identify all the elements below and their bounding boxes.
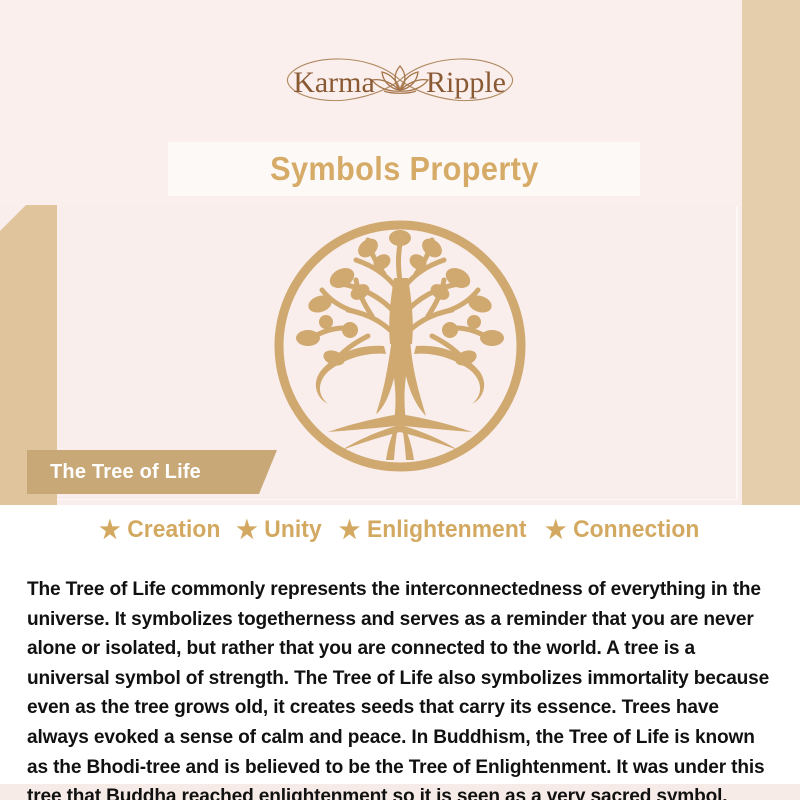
keyword-item: ★ Connection [545,516,699,544]
keyword-item: ★ Enlightenment [339,516,527,544]
keyword-label: Connection [573,516,699,544]
star-icon: ★ [99,518,120,543]
star-icon: ★ [339,518,360,543]
keyword-item: ★ Creation [99,516,220,544]
keyword-label: Enlightenment [367,516,527,544]
description-text: The Tree of Life commonly represents the… [27,575,775,800]
keyword-item: ★ Unity [236,516,322,544]
keyword-list: ★ Creation ★ Unity ★ Enlightenment ★ Con… [0,513,800,547]
tree-of-life-icon [272,218,528,474]
star-icon: ★ [545,518,566,543]
symbol-label-banner: The Tree of Life [27,450,277,494]
brand-logo: Karma Ripple [250,44,550,116]
title-banner: Symbols Property [168,142,640,196]
tan-right-border [742,0,800,592]
symbol-label: The Tree of Life [50,461,201,484]
infographic-page: Karma Ripple Symbols Property [0,0,800,800]
brand-name-left: Karma [293,66,375,99]
star-icon: ★ [236,518,257,543]
keyword-label: Creation [127,516,220,544]
brand-name-right: Ripple [426,66,506,99]
keyword-label: Unity [264,516,321,544]
page-title: Symbols Property [270,150,539,188]
